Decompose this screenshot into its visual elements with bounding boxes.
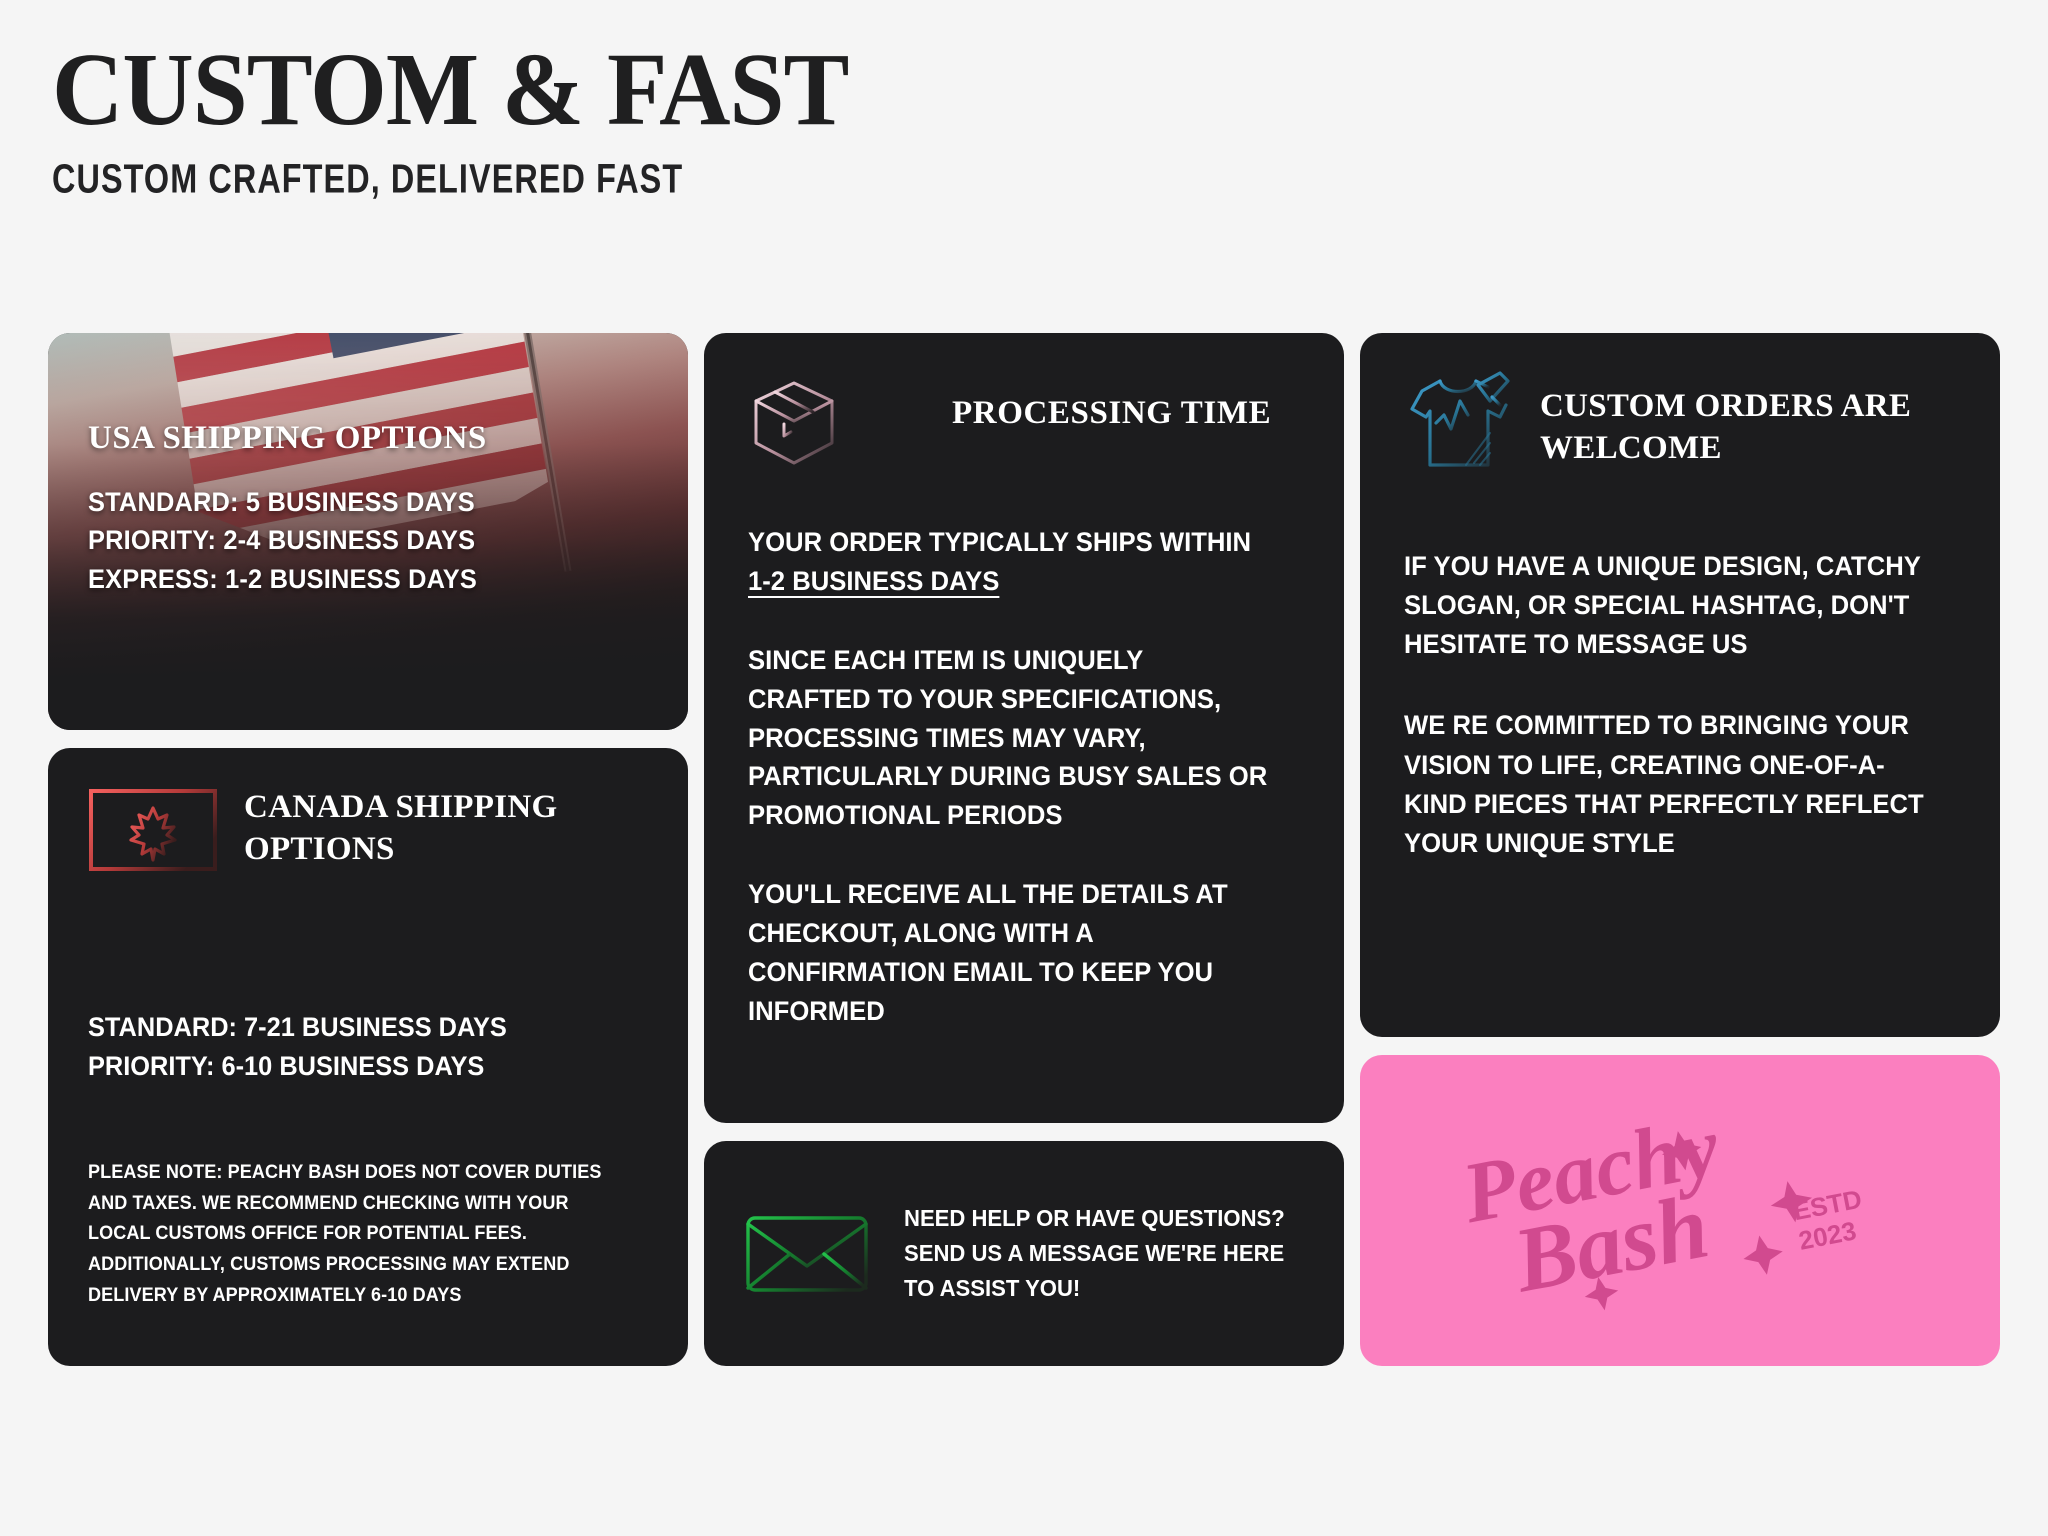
column-left: USA SHIPPING OPTIONS STANDARD: 5 BUSINES… <box>48 333 688 1366</box>
processing-intro-highlight: 1-2 BUSINESS DAYS <box>748 566 999 596</box>
usa-card-lines: STANDARD: 5 BUSINESS DAYS PRIORITY: 2-4 … <box>88 483 648 598</box>
processing-card-title: PROCESSING TIME <box>952 395 1271 432</box>
envelope-icon <box>744 1208 870 1300</box>
page-subtitle: CUSTOM CRAFTED, DELIVERED FAST <box>52 155 807 202</box>
canada-customs-note: PLEASE NOTE: PEACHY BASH DOES NOT COVER … <box>88 1158 620 1312</box>
processing-card-header: PROCESSING TIME <box>748 373 1300 467</box>
tshirt-icon <box>1404 371 1514 475</box>
canada-flag-icon <box>88 788 218 872</box>
canada-card-title: CANADA SHIPPING OPTIONS <box>244 784 648 870</box>
usa-shipping-card: USA SHIPPING OPTIONS STANDARD: 5 BUSINES… <box>48 333 688 730</box>
page-title: CUSTOM & FAST <box>52 38 848 142</box>
page-header: CUSTOM & FAST CUSTOM CRAFTED, DELIVERED … <box>52 38 890 200</box>
custom-orders-card: CUSTOM ORDERS ARE WELCOME IF YOU HAVE A … <box>1360 333 2000 1037</box>
custom-orders-paragraph-2: WE RE COMMITTED TO BRINGING YOUR VISION … <box>1404 706 1928 863</box>
processing-time-card: PROCESSING TIME YOUR ORDER TYPICALLY SHI… <box>704 333 1344 1123</box>
usa-card-content: USA SHIPPING OPTIONS STANDARD: 5 BUSINES… <box>48 420 688 598</box>
processing-intro: YOUR ORDER TYPICALLY SHIPS WITHIN 1-2 BU… <box>748 523 1272 601</box>
peachy-bash-logo: Peachy Bash ESTD 2023 <box>1460 1086 1900 1336</box>
page-root: CUSTOM & FAST CUSTOM CRAFTED, DELIVERED … <box>0 0 2048 1536</box>
usa-line-express: EXPRESS: 1-2 BUSINESS DAYS <box>88 560 614 598</box>
need-help-text: NEED HELP OR HAVE QUESTIONS? SEND US A M… <box>904 1201 1288 1306</box>
custom-orders-body: IF YOU HAVE A UNIQUE DESIGN, CATCHY SLOG… <box>1404 547 1956 863</box>
column-right: CUSTOM ORDERS ARE WELCOME IF YOU HAVE A … <box>1360 333 2000 1366</box>
need-help-card[interactable]: NEED HELP OR HAVE QUESTIONS? SEND US A M… <box>704 1141 1344 1366</box>
canada-shipping-card: CANADA SHIPPING OPTIONS STANDARD: 7-21 B… <box>48 748 688 1366</box>
brand-logo-card: Peachy Bash ESTD 2023 <box>1360 1055 2000 1366</box>
canada-card-lines: STANDARD: 7-21 BUSINESS DAYS PRIORITY: 6… <box>88 1008 648 1086</box>
custom-orders-paragraph-1: IF YOU HAVE A UNIQUE DESIGN, CATCHY SLOG… <box>1404 547 1928 664</box>
usa-card-title: USA SHIPPING OPTIONS <box>88 420 648 457</box>
processing-paragraph-2: SINCE EACH ITEM IS UNIQUELY CRAFTED TO Y… <box>748 641 1272 835</box>
canada-line-priority: PRIORITY: 6-10 BUSINESS DAYS <box>88 1047 614 1086</box>
usa-line-priority: PRIORITY: 2-4 BUSINESS DAYS <box>88 521 614 559</box>
column-middle: PROCESSING TIME YOUR ORDER TYPICALLY SHI… <box>704 333 1344 1366</box>
package-box-icon <box>748 375 840 467</box>
canada-line-standard: STANDARD: 7-21 BUSINESS DAYS <box>88 1008 614 1047</box>
processing-paragraph-3: YOU'LL RECEIVE ALL THE DETAILS AT CHECKO… <box>748 875 1272 1031</box>
info-card-grid: USA SHIPPING OPTIONS STANDARD: 5 BUSINES… <box>48 333 2000 1366</box>
custom-orders-title: CUSTOM ORDERS ARE WELCOME <box>1540 371 1956 469</box>
custom-orders-header: CUSTOM ORDERS ARE WELCOME <box>1404 371 1956 475</box>
processing-intro-lead: YOUR ORDER TYPICALLY SHIPS WITHIN <box>748 527 1251 557</box>
canada-card-header: CANADA SHIPPING OPTIONS <box>88 784 648 872</box>
usa-line-standard: STANDARD: 5 BUSINESS DAYS <box>88 483 614 521</box>
processing-card-body: YOUR ORDER TYPICALLY SHIPS WITHIN 1-2 BU… <box>748 523 1300 1031</box>
